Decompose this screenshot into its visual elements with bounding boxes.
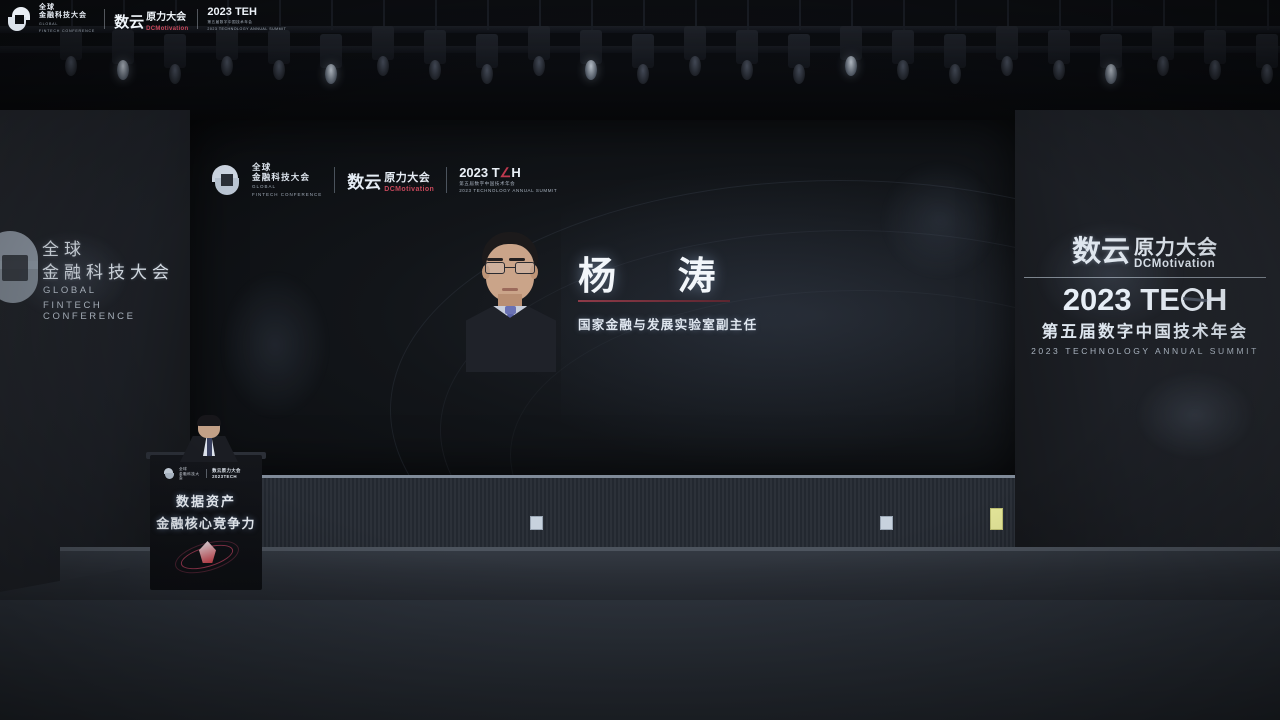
screen-speaker-title: 国家金融与发展实验室副主任: [578, 314, 757, 333]
at-symbol-icon: [1178, 285, 1207, 314]
stage-light-icon: [164, 34, 186, 68]
stage-light-icon: [840, 26, 862, 60]
screen-tech-sub-cn: 第五届数字中国技术年会: [459, 182, 557, 187]
corner-watermark: 全球 金融科技大会 GLOBAL FINTECH CONFERENCE 数云 原…: [8, 5, 286, 33]
podium-title-line2: 金融核心竞争力: [150, 513, 262, 532]
watermark-gfc-en-line2: FINTECH CONFERENCE: [39, 29, 95, 34]
gfc-logo-mark-icon: [164, 468, 174, 479]
stage-light-icon: [320, 34, 342, 68]
stage-light-icon: [1048, 30, 1070, 64]
screen-logo-bar: 全球 金融科技大会 GLOBAL FINTECH CONFERENCE 数云 原…: [212, 162, 557, 198]
screen-tech-slash: ∠: [500, 165, 512, 180]
screen-gfc-en-line1: GLOBAL: [252, 184, 322, 190]
stage-light-icon: [1152, 26, 1174, 60]
stage-light-icon: [372, 26, 394, 60]
watermark-tech-sub-en: 2023 TECHNOLOGY ANNUAL SUMMIT: [207, 27, 286, 31]
screen-dc-cn-sub: 原力大会: [384, 172, 430, 184]
under-screen-panel: [190, 475, 1015, 547]
watermark-tech-year: 2023 TE: [207, 6, 249, 18]
left-wall-en-line1: GLOBAL: [43, 285, 97, 296]
gfc-logo-mark-icon: [212, 165, 240, 195]
screen-tech-year: 2023 T: [459, 165, 499, 180]
screen-dc-en: DCMotivation: [384, 186, 434, 193]
stage-light-icon: [268, 30, 290, 64]
stage-light-icon: [944, 34, 966, 68]
podium-logo-bar: 全球 金融科技大会 数云原力大会 2023TECH: [164, 467, 262, 481]
audience-area: 中国民生银行中国进出口银行中信银行: [0, 540, 1280, 720]
left-wall-logo: 全球 金融科技大会 GLOBAL FINTECH CONFERENCE: [0, 225, 175, 320]
screen-gfc-cn-line1: 全球: [252, 162, 322, 172]
watermark-dc-cn-sub: 原力大会: [146, 12, 186, 23]
stage-light-icon: [528, 26, 550, 60]
stage-light-icon: [996, 26, 1018, 60]
screen-gfc-en-line2: FINTECH CONFERENCE: [252, 192, 322, 198]
stage-light-icon: [736, 30, 758, 64]
watermark-dc-cn: 数云: [114, 11, 144, 32]
eyeglasses-icon: [484, 262, 536, 275]
right-wall-dc-cn: 数云: [1072, 228, 1130, 270]
screen-name-divider: [578, 300, 730, 302]
stage-light-icon: [424, 30, 446, 64]
stage-light-icon: [1256, 34, 1278, 68]
right-wall-annual-en: 2023 TECHNOLOGY ANNUAL SUMMIT: [1020, 346, 1270, 356]
podium-logo-right: 数云原力大会 2023TECH: [212, 468, 262, 479]
stage-light-icon: [684, 26, 706, 60]
watermark-gfc-cn-line2: 金融科技大会: [39, 12, 95, 20]
watermark-gfc-en-line1: GLOBAL: [39, 22, 95, 27]
gfc-logo-mark-icon: [8, 7, 30, 31]
right-wall-dc-en: DCMotivation: [1134, 259, 1218, 271]
screen-gfc-cn-line2: 金融科技大会: [252, 172, 322, 182]
left-wall-en-line2: FINTECH CONFERENCE: [43, 300, 175, 322]
stage-light-icon: [632, 34, 654, 68]
stage-light-icon: [476, 34, 498, 68]
watermark-gfc-cn-line1: 全球: [39, 4, 95, 12]
right-wall-annual-cn: 第五届数字中国技术年会: [1020, 318, 1270, 342]
live-speaker: [178, 416, 240, 460]
stage-light-icon: [1100, 34, 1122, 68]
conference-stage-photo: 全球 金融科技大会 GLOBAL FINTECH CONFERENCE 数云 原…: [0, 0, 1280, 720]
screen-dc-cn: 数云: [347, 168, 381, 193]
speaker-portrait: [462, 232, 558, 372]
left-wall-cn-line2: 金融科技大会: [42, 258, 174, 283]
watermark-tech-h: H: [249, 6, 257, 18]
gfc-logo-mark-icon: [0, 231, 40, 303]
right-wall-banner: 数云 原力大会 DCMotivation 2023 TE H 第五届数字中国技术…: [1020, 228, 1270, 356]
screen-tech-sub-en: 2023 TECHNOLOGY ANNUAL SUMMIT: [459, 189, 557, 194]
right-wall-dc-cn-sub: 原力大会: [1134, 237, 1218, 259]
screen-speaker-name: 杨 涛: [578, 245, 742, 300]
right-wall-tech-right: H: [1205, 284, 1227, 315]
stage-light-icon: [1204, 30, 1226, 64]
left-wall-cn-line1: 全球: [42, 235, 86, 260]
stage-light-icon: [580, 30, 602, 64]
stage-light-icon: [892, 30, 914, 64]
watermark-dc-en: DCMotivation: [146, 26, 188, 32]
stage-light-icon: [788, 34, 810, 68]
podium-logo-cn-line2: 金融科技大会: [179, 472, 201, 481]
podium-title-line1: 数据资产: [150, 491, 262, 510]
right-wall-divider: [1024, 277, 1266, 278]
screen-tech-rest: H: [511, 165, 520, 180]
watermark-tech-sub-cn: 第五届数字中国技术年会: [207, 20, 286, 25]
right-wall-tech-left: 2023 TE: [1063, 284, 1180, 315]
stage-light-icon: [112, 30, 134, 64]
